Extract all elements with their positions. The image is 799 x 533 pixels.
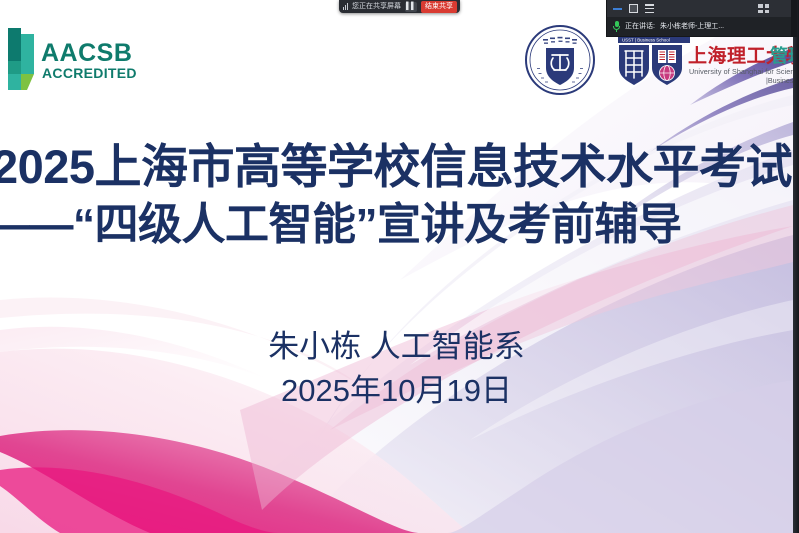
aacsb-accredited-word: ACCREDITED	[42, 65, 137, 81]
stop-share-button[interactable]: 结束共享	[421, 1, 457, 13]
bschool-tagline: USST | Business School	[622, 38, 670, 43]
active-speaker-name: 朱小栋老师-上理工...	[660, 22, 724, 32]
bschool-english-line2: |Busines	[766, 76, 793, 85]
presentation-slide: AACSB ACCREDITED	[0, 0, 793, 533]
screen-right-edge-strip	[793, 0, 799, 533]
aacsb-accredited-logo: AACSB ACCREDITED	[8, 28, 140, 90]
meeting-video-panel[interactable]: 正在讲话: 朱小栋老师-上理工...	[606, 0, 797, 37]
usst-university-seal	[524, 24, 596, 96]
active-speaker-row: 正在讲话: 朱小栋老师-上理工...	[607, 17, 797, 36]
meeting-panel-toolbar[interactable]	[607, 0, 797, 17]
share-status-text: 您正在共享屏幕	[352, 2, 401, 12]
minimize-icon[interactable]	[613, 8, 622, 10]
screen-share-view: AACSB ACCREDITED	[0, 0, 799, 533]
aacsb-wordmark: AACSB	[41, 39, 132, 67]
slide-title-line-1: 2025上海市高等学校信息技术水平考试	[0, 138, 793, 196]
microphone-active-icon[interactable]	[613, 21, 620, 32]
slide-title-line-2: ——“四级人工智能”宣讲及考前辅导	[0, 196, 793, 254]
usst-business-school-logo: USST | Business School	[616, 36, 793, 88]
slide-subtitle: 朱小栋 人工智能系 2025年10月19日	[0, 325, 793, 413]
signal-bars-icon	[343, 3, 348, 10]
panel-side-strip	[791, 0, 797, 36]
list-view-icon[interactable]	[645, 4, 654, 13]
screen-share-control-bar[interactable]: 您正在共享屏幕 ▌▌ 结束共享	[339, 0, 460, 13]
gallery-view-icon[interactable]	[758, 4, 769, 13]
slide-presenter: 朱小栋 人工智能系	[0, 325, 793, 369]
slide-title: 2025上海市高等学校信息技术水平考试 ——“四级人工智能”宣讲及考前辅导	[0, 138, 793, 254]
restore-window-icon[interactable]	[629, 4, 638, 13]
bschool-chinese-accent: 管理	[770, 45, 793, 66]
bschool-english-line1: University of Shanghai for Science & Te	[689, 67, 793, 76]
speaking-prefix-label: 正在讲话:	[625, 22, 655, 32]
slide-date: 2025年10月19日	[0, 369, 793, 413]
pause-share-icon[interactable]: ▌▌	[405, 2, 417, 12]
